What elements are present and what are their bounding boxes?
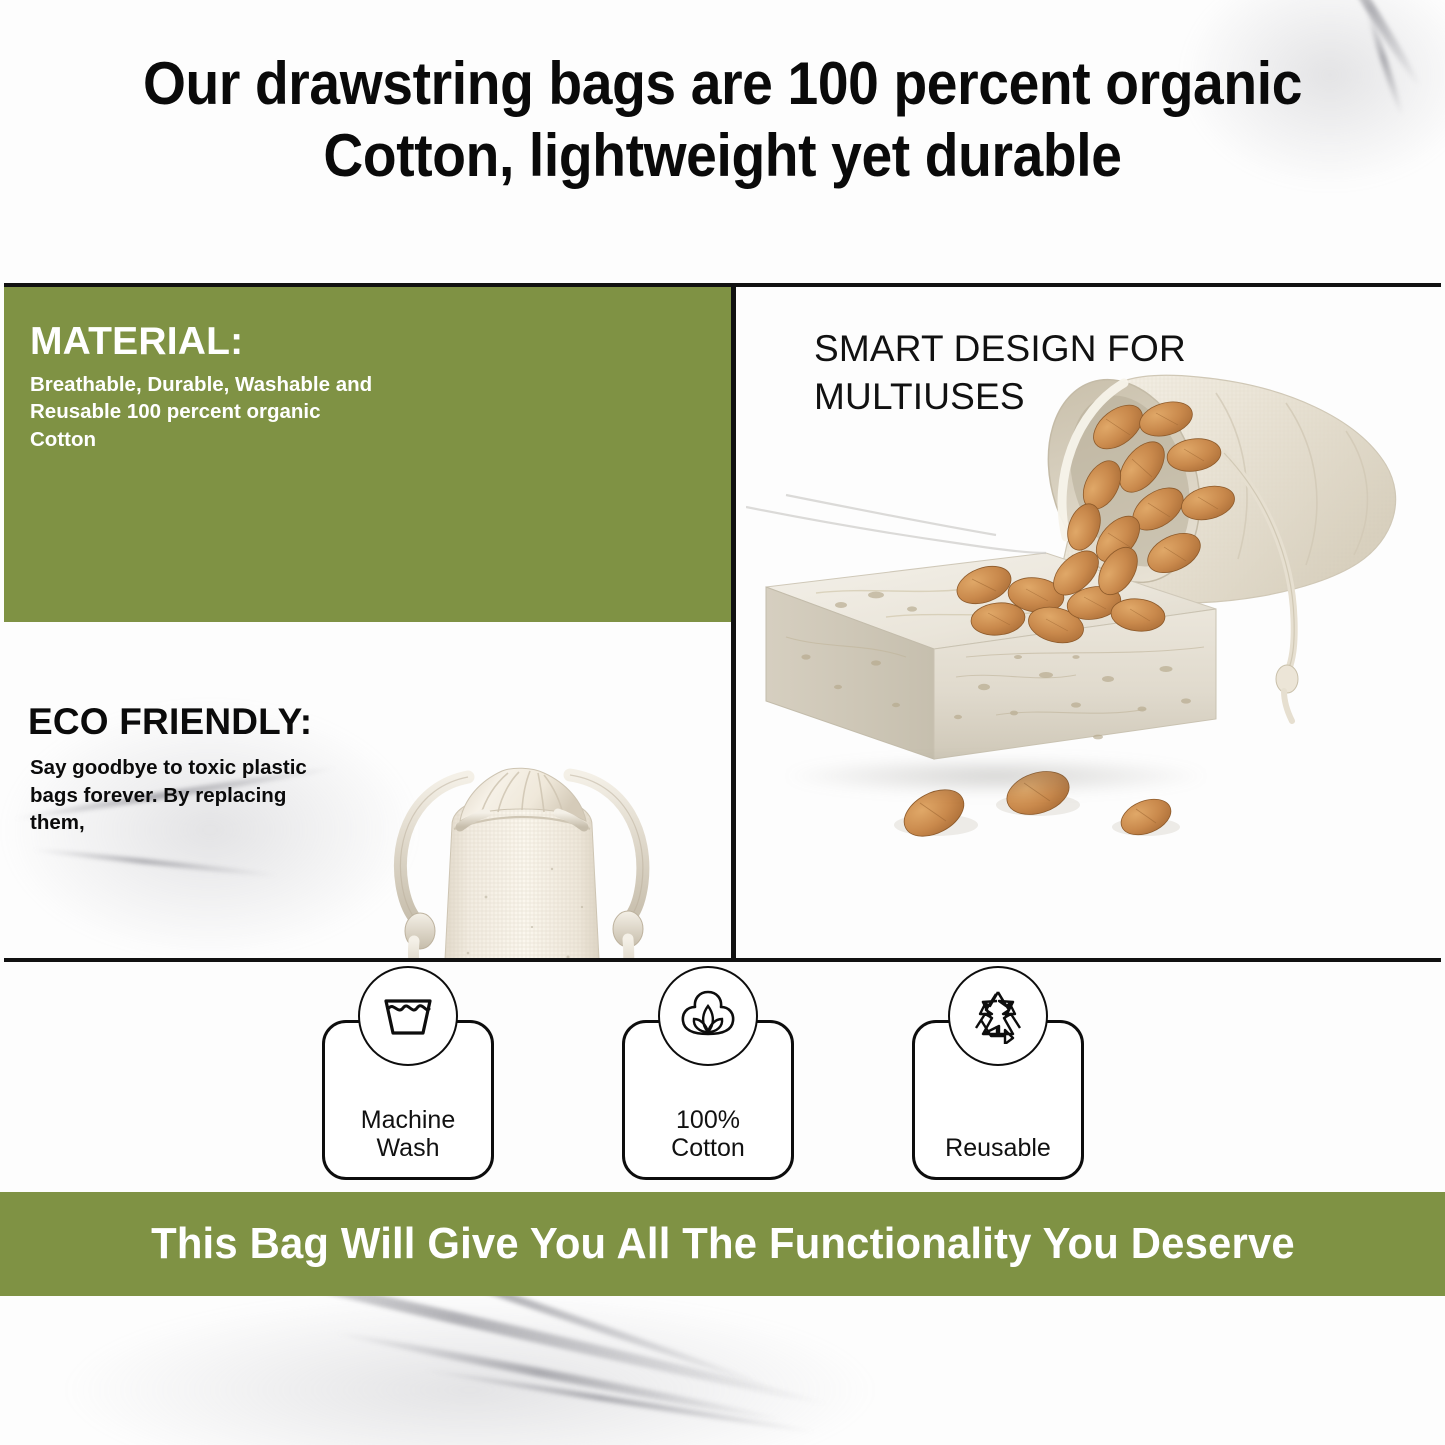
headline-line-1: Our drawstring bags are 100 percent orga… bbox=[84, 48, 1362, 120]
wash-tub-icon bbox=[358, 966, 458, 1066]
page-title: Our drawstring bags are 100 percent orga… bbox=[58, 48, 1387, 192]
almond-scene-svg bbox=[746, 357, 1436, 917]
badge-label-line-1: Machine bbox=[322, 1106, 494, 1134]
eco-friendly-heading: ECO FRIENDLY: bbox=[28, 701, 312, 743]
care-badge-row: Machine Wash 100% Cotton bbox=[0, 966, 1445, 1192]
bottom-banner: This Bag Will Give You All The Functiona… bbox=[0, 1192, 1445, 1296]
cotton-boll-icon bbox=[658, 966, 758, 1066]
badge-label-line-2: Wash bbox=[322, 1134, 494, 1162]
eco-friendly-description: Say goodbye to toxic plastic bags foreve… bbox=[30, 754, 330, 837]
cotton-bag-svg bbox=[356, 717, 686, 958]
panel-material-eco: MATERIAL: Breathable, Durable, Washable … bbox=[4, 287, 731, 958]
cotton-bag-photo bbox=[356, 717, 686, 958]
badge-label: 100% Cotton bbox=[622, 1106, 794, 1162]
stone-shadow bbox=[786, 757, 1206, 795]
badge-reusable[interactable]: Reusable bbox=[912, 966, 1084, 1192]
badge-label-line-1: Reusable bbox=[912, 1134, 1084, 1162]
bottom-banner-text: This Bag Will Give You All The Functiona… bbox=[151, 1219, 1295, 1269]
material-heading: MATERIAL: bbox=[30, 320, 243, 364]
almond-scene-photo bbox=[746, 357, 1436, 917]
headline-line-2: Cotton, lightweight yet durable bbox=[84, 120, 1362, 192]
badge-label-line-2: Cotton bbox=[622, 1134, 794, 1162]
infographic-canvas: Our drawstring bags are 100 percent orga… bbox=[0, 0, 1445, 1445]
material-description: Breathable, Durable, Washable and Reusab… bbox=[30, 371, 390, 453]
badge-machine-wash[interactable]: Machine Wash bbox=[322, 966, 494, 1192]
badge-label: Machine Wash bbox=[322, 1106, 494, 1162]
badge-label: Reusable bbox=[912, 1134, 1084, 1162]
recycle-icon bbox=[948, 966, 1048, 1066]
badge-100-cotton[interactable]: 100% Cotton bbox=[622, 966, 794, 1192]
badge-label-line-1: 100% bbox=[622, 1106, 794, 1134]
panel-smart-design: SMART DESIGN FOR MULTIUSES bbox=[736, 287, 1441, 958]
